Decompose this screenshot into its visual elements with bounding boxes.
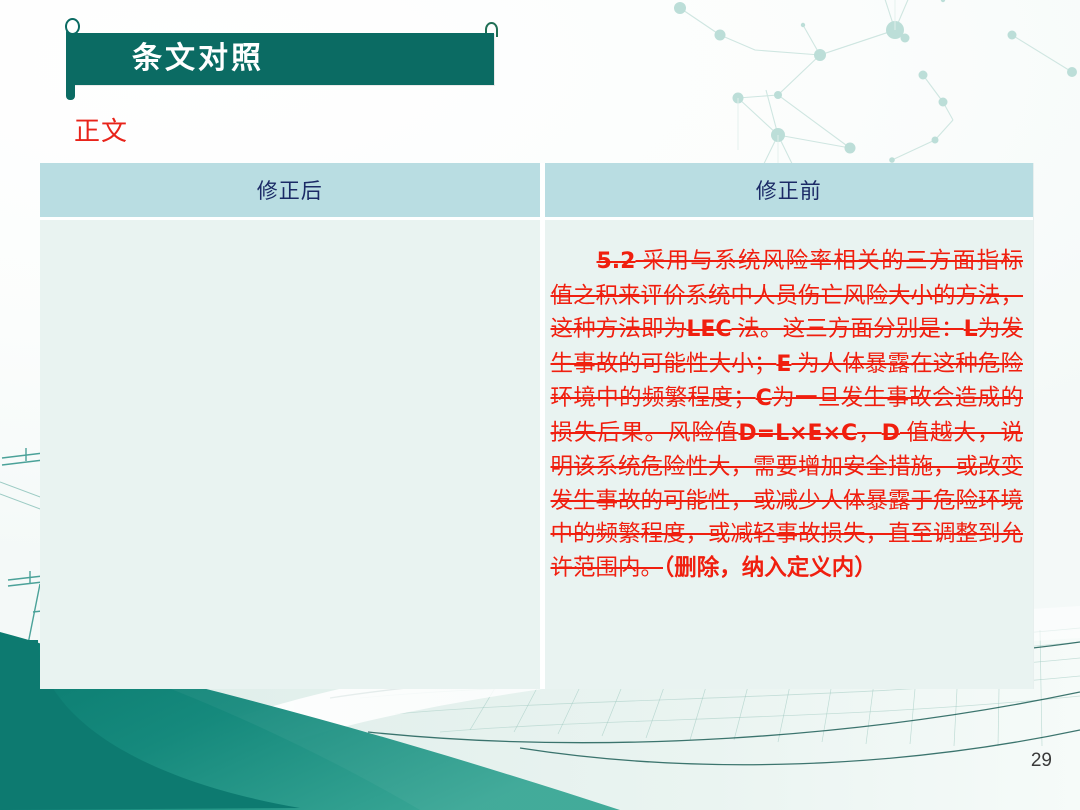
cell-after-revision [40, 220, 540, 689]
revision-text-seg-6: ， [857, 420, 881, 445]
revision-text-l: L [964, 317, 978, 342]
revision-text-e: E [776, 352, 791, 377]
revision-text-d: D [882, 421, 900, 446]
after-revision-content [40, 220, 540, 244]
before-revision-content: 5.2 采用与系统风险率相关的三方面指标值之积来评价系统中人员伤亡风险大小的方法… [545, 220, 1034, 584]
table-header-row: 修正后 修正前 [40, 163, 1033, 217]
slide-title-banner: 条文对照 [74, 33, 494, 85]
cell-before-revision: 5.2 采用与系统风险率相关的三方面指标值之积来评价系统中人员伤亡风险大小的方法… [545, 220, 1034, 689]
page-title: 条文对照 [132, 44, 264, 74]
revision-text-formula: D=L×E×C [738, 421, 857, 446]
table-header-after-revision: 修正后 [40, 163, 540, 217]
slide-canvas: 条文对照 正文 修正后 修正前 5.2 采用与系统风险率相关的三方面指标值之积来… [0, 0, 1080, 810]
table-header-before-revision: 修正前 [545, 163, 1034, 217]
section-label: 正文 [74, 111, 128, 148]
clause-comparison-table: 修正后 修正前 5.2 采用与系统风险率相关的三方面指标值之积来评价系统中人员伤… [40, 163, 1034, 689]
page-number: 29 [1031, 750, 1052, 772]
revision-text-seg-2: 法。这三方面分别是： [732, 316, 964, 341]
revision-text-lec: LEC [686, 317, 731, 342]
revision-annotation: （删除，纳入定义内） [663, 555, 877, 580]
table-row: 5.2 采用与系统风险率相关的三方面指标值之积来评价系统中人员伤亡风险大小的方法… [40, 220, 1033, 689]
clause-number: 5.2 [597, 249, 636, 274]
revision-text-c: C [756, 386, 772, 411]
